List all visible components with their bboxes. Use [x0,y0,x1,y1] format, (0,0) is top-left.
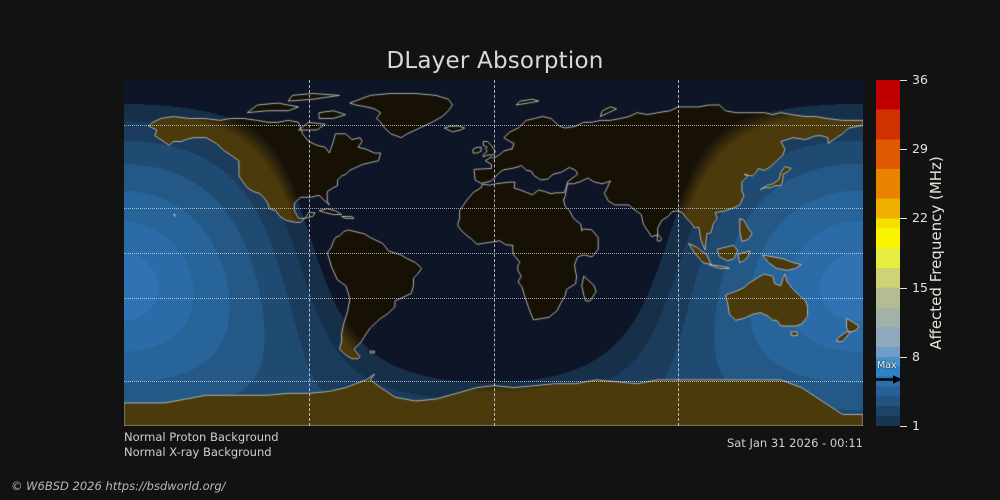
colorbar-tick [900,218,907,219]
colorbar-axis-label: Affected Frequency (MHz) [924,80,948,426]
arrow-right-icon [876,375,902,384]
colorbar[interactable]: 3629221581 Max [876,80,900,426]
absorption-map[interactable] [124,80,863,426]
colorbar-tick-label: 1 [912,420,920,433]
page-title: DLayer Absorption [0,48,990,74]
colorbar-tick-label: 8 [912,351,920,364]
xray-background-note: Normal X-ray Background [124,447,272,459]
copyright-label: © W6BSD 2026 https://bsdworld.org/ [11,479,226,493]
max-marker-label: Max [877,361,897,371]
world-map-axes[interactable] [124,80,863,426]
colorbar-tick [900,80,907,81]
figure-canvas: DLayer Absorption 3629221581 Max Affecte… [0,0,1000,500]
timestamp-label: Sat Jan 31 2026 - 00:11 [727,436,863,450]
proton-background-note: Normal Proton Background [124,432,279,444]
colorbar-tick [900,357,907,358]
max-marker: Max [876,363,900,387]
colorbar-tick [900,288,907,289]
colorbar-tick [900,426,907,427]
colorbar-tick [900,149,907,150]
